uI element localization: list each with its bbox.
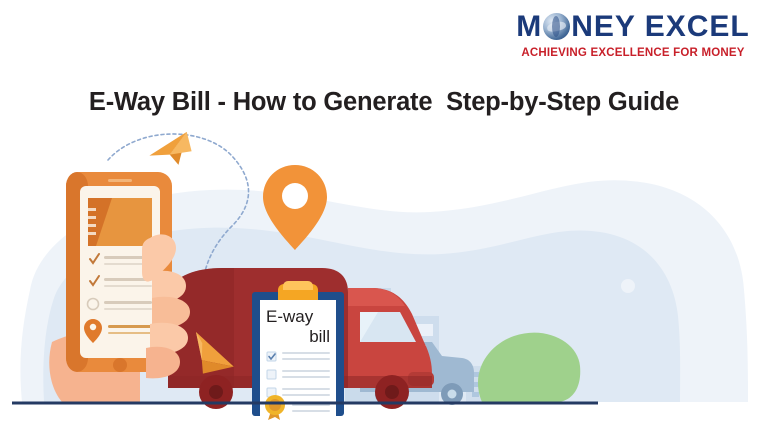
page-canvas: MNEY EXCEL ACHIEVING EXCELLENCE FOR MONE… bbox=[0, 0, 768, 432]
clipboard-title-line1: E-way bbox=[266, 307, 314, 326]
globe-icon bbox=[543, 13, 570, 40]
logo-word-prefix: M bbox=[516, 10, 542, 43]
paper-plane-icon bbox=[146, 132, 194, 171]
logo-wordmark: MNEY EXCEL bbox=[508, 8, 758, 46]
page-title: E-Way Bill - How to Generate Step-by-Ste… bbox=[0, 88, 768, 117]
hand-holding-phone bbox=[49, 172, 190, 402]
clipboard-title-line2: bill bbox=[309, 327, 330, 346]
e-way-bill-hero-illustration: E-way bill bbox=[0, 120, 768, 432]
e-way-bill-clipboard: E-way bill bbox=[252, 281, 344, 420]
site-logo[interactable]: MNEY EXCEL ACHIEVING EXCELLENCE FOR MONE… bbox=[508, 8, 758, 70]
logo-tagline: ACHIEVING EXCELLENCE FOR MONEY bbox=[508, 47, 758, 59]
logo-word-suffix: NEY EXCEL bbox=[571, 10, 750, 43]
background-dot bbox=[621, 279, 635, 293]
award-seal-icon bbox=[265, 395, 285, 420]
